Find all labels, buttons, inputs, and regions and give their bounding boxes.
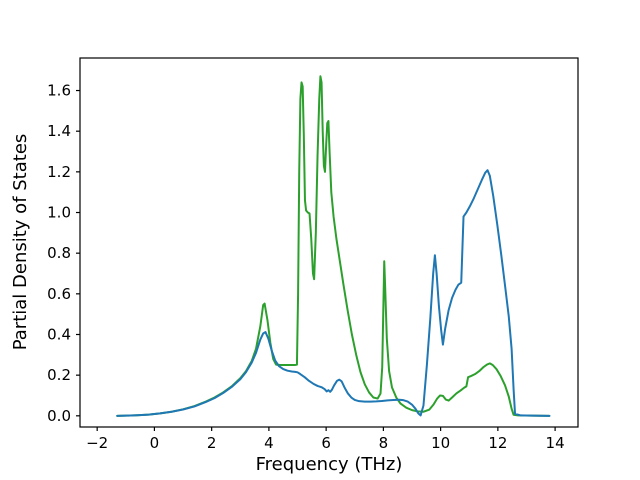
data-series-group [117, 76, 549, 416]
plot-frame [80, 58, 578, 427]
pdos-line-chart: −202468101214 0.00.20.40.60.81.01.21.41.… [0, 0, 640, 480]
x-tick-label: 4 [264, 434, 274, 452]
y-tick-label: 0.8 [47, 244, 71, 262]
x-tick-label: 2 [207, 434, 217, 452]
x-axis-label: Frequency (THz) [256, 454, 403, 475]
y-tick-label: 1.6 [47, 82, 71, 100]
x-tick-label: 12 [488, 434, 507, 452]
axes-frame [80, 58, 578, 427]
x-tick-label: 14 [546, 434, 565, 452]
y-tick-label: 0.2 [47, 366, 71, 384]
x-tick-label: 8 [379, 434, 389, 452]
y-tick-label: 1.0 [47, 204, 71, 222]
x-tick-label: 10 [431, 434, 450, 452]
x-axis-ticks: −202468101214 [86, 427, 565, 452]
y-tick-label: 1.4 [47, 122, 71, 140]
y-tick-label: 1.2 [47, 163, 71, 181]
y-tick-label: 0.0 [47, 407, 71, 425]
y-tick-label: 0.6 [47, 285, 71, 303]
y-axis-label: Partial Density of States [10, 134, 31, 351]
y-tick-label: 0.4 [47, 325, 71, 343]
figure-canvas: −202468101214 0.00.20.40.60.81.01.21.41.… [0, 0, 640, 480]
series-green-series [117, 76, 549, 416]
x-tick-label: 6 [321, 434, 331, 452]
x-tick-label: −2 [86, 434, 108, 452]
y-axis-ticks: 0.00.20.40.60.81.01.21.41.6 [47, 82, 80, 425]
x-tick-label: 0 [150, 434, 160, 452]
